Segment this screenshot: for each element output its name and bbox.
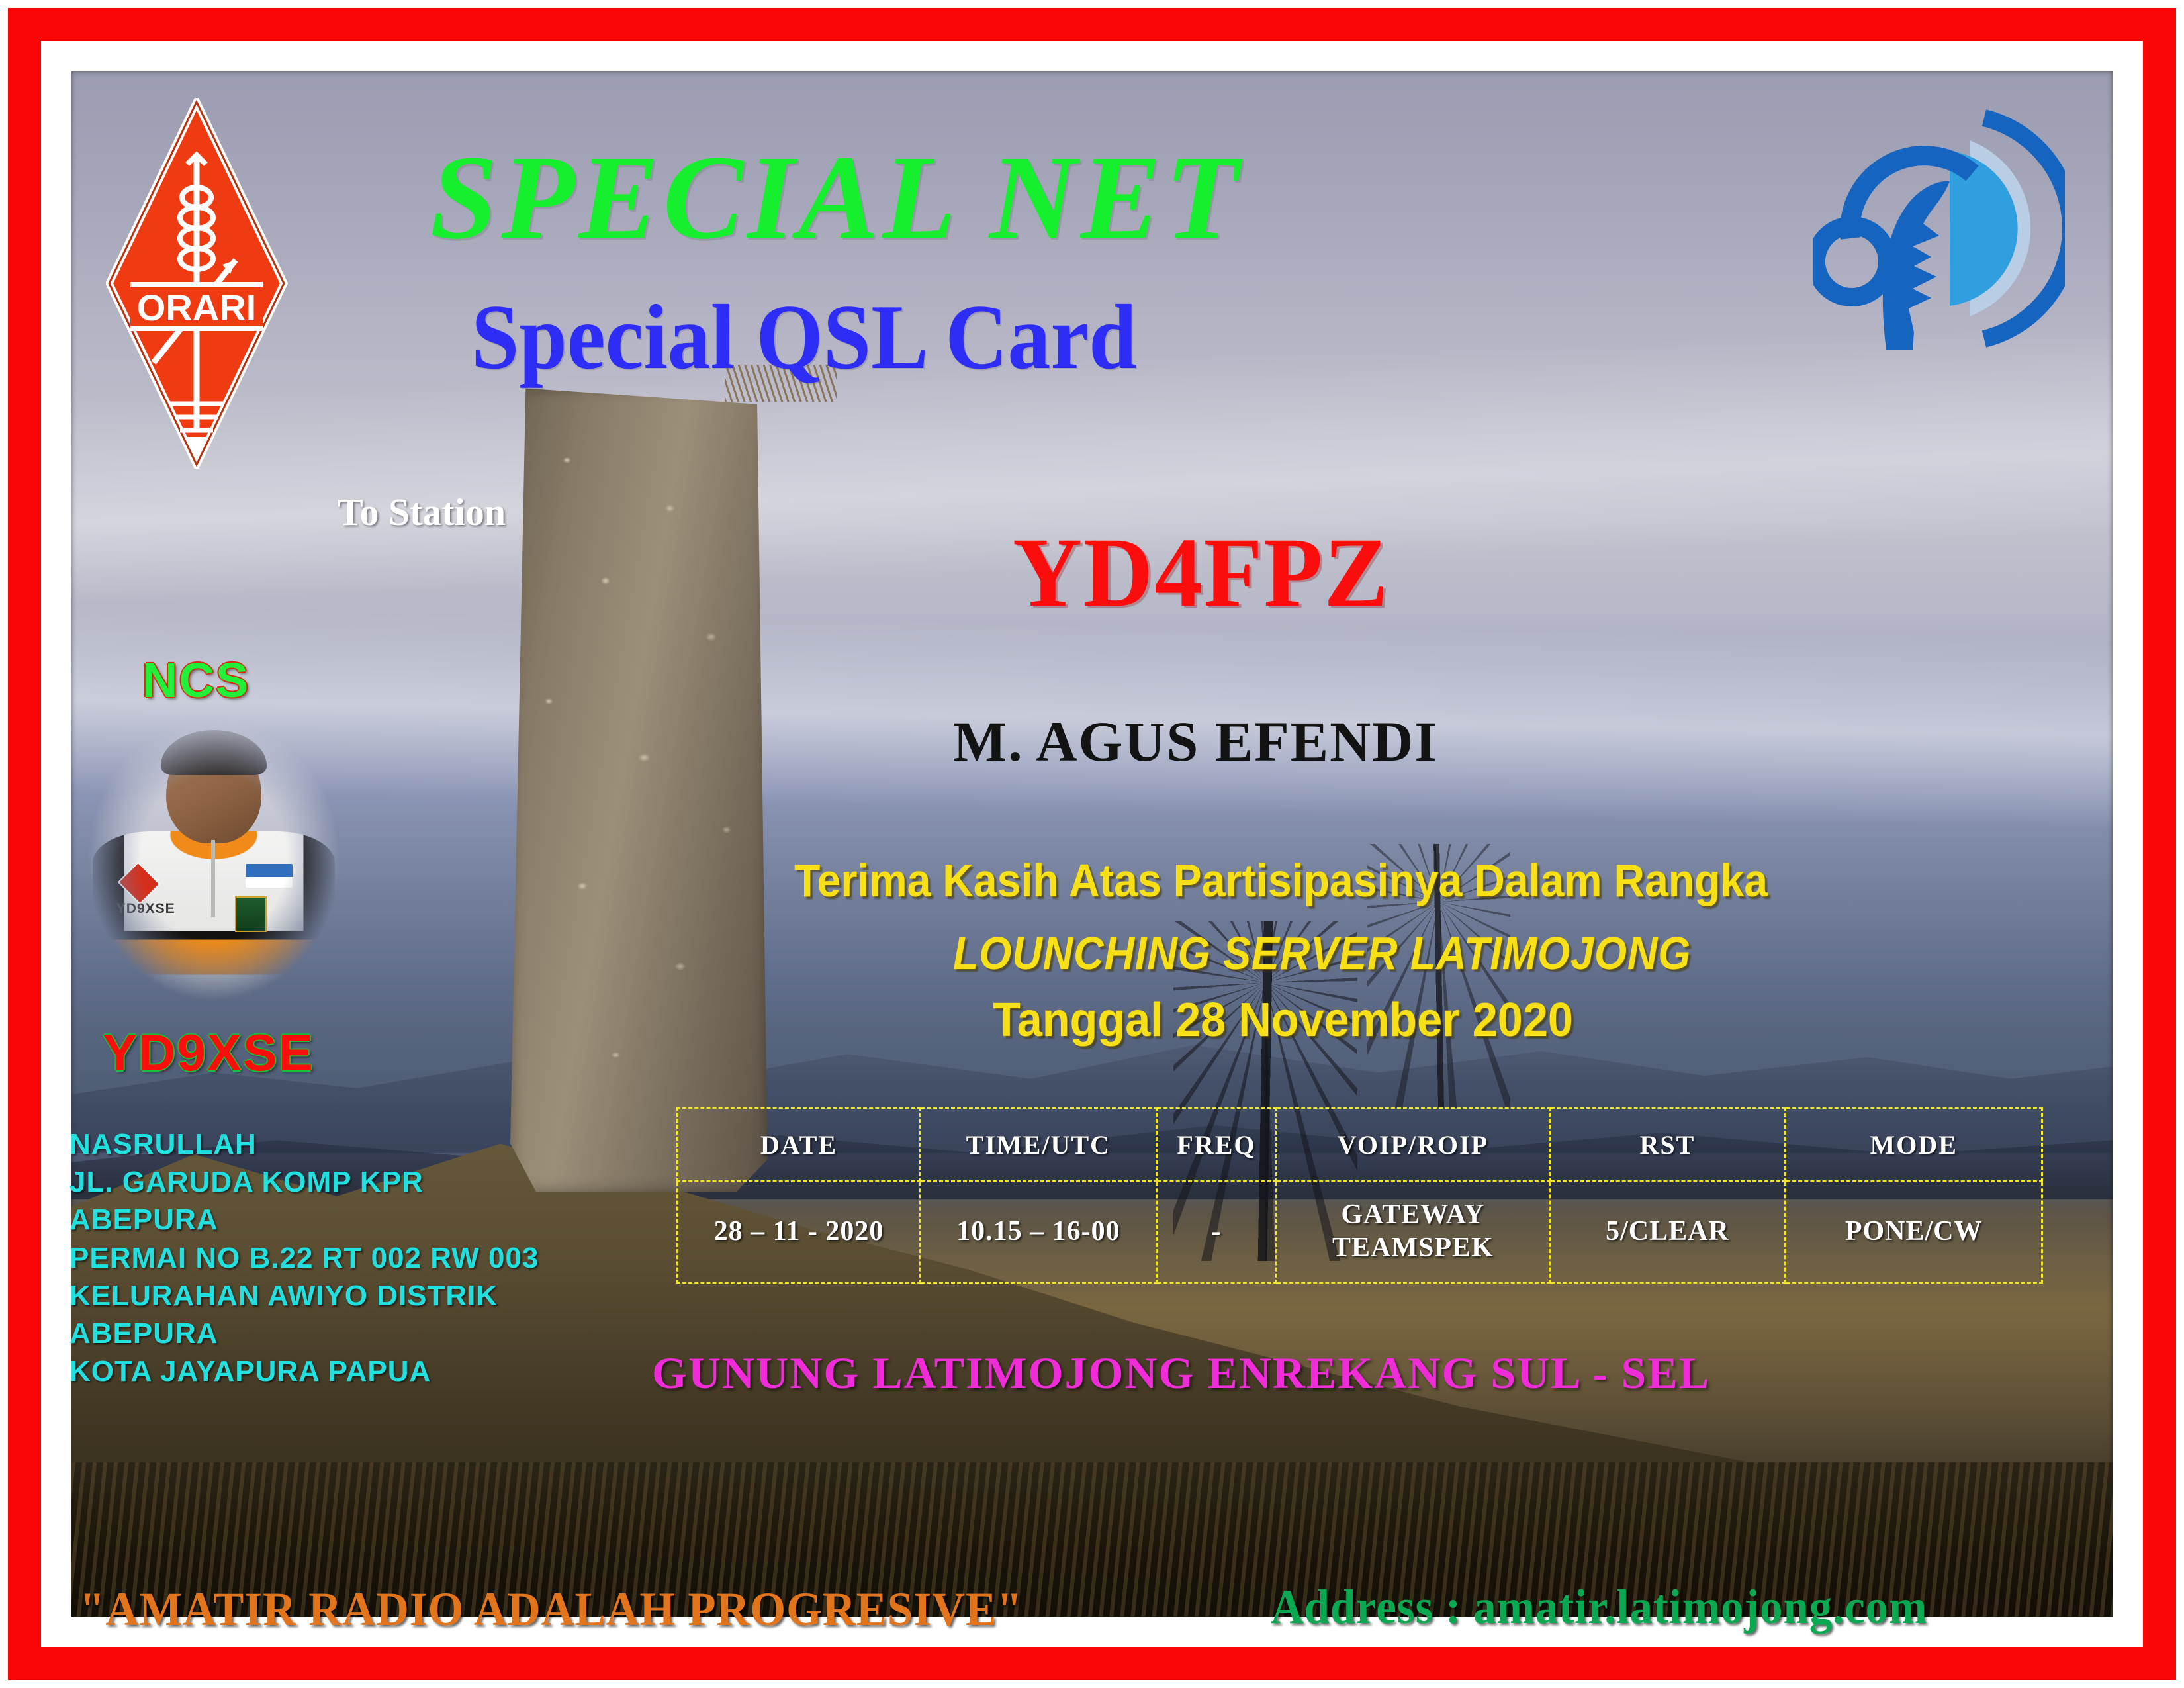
to-station-label: To Station [338,490,506,534]
thanks-line: Terima Kasih Atas Partisipasinya Dalam R… [794,854,1768,907]
address-line: PERMAI NO B.22 RT 002 RW 003 [69,1239,539,1277]
table-row: 28 – 11 - 2020 10.15 – 16-00 - GATEWAY T… [678,1182,2042,1283]
stone-cairn [510,388,768,1192]
shirt-placket [211,840,215,917]
station-callsign: YD4FPZ [1013,523,1389,622]
ncs-callsign: YD9XSE [103,1023,314,1083]
location-line: GUNUNG LATIMOJONG ENREKANG SUL - SEL [652,1347,1710,1399]
column-header-date: DATE [678,1108,921,1182]
headset-face-logo [1813,99,2065,357]
qsl-card: ORARI SPECIAL NET Specia [0,0,2184,1688]
event-line: LOUNCHING SERVER LATIMOJONG [953,927,1691,980]
shirt-org-patch [246,864,293,888]
cell-date: 28 – 11 - 2020 [678,1182,921,1283]
column-header-freq: FREQ [1156,1108,1276,1182]
column-header-voip: VOIP/ROIP [1277,1108,1549,1182]
operator-hair [161,730,266,774]
orari-logo: ORARI [106,98,288,469]
event-date-line: Tanggal 28 November 2020 [993,993,1573,1047]
address-line: NASRULLAH [69,1125,539,1163]
cell-voip: GATEWAY TEAMSPEK [1277,1182,1549,1283]
page-title: SPECIAL NET [430,138,1242,258]
address-block: NASRULLAH JL. GARUDA KOMP KPR ABEPURA PE… [69,1125,539,1390]
ncs-label: NCS [142,652,250,708]
address-line: KOTA JAYAPURA PAPUA [69,1352,539,1390]
table-header-row: DATE TIME/UTC FREQ VOIP/ROIP RST MODE [678,1108,2042,1182]
address-line: ABEPURA [69,1315,539,1352]
cell-rst: 5/CLEAR [1549,1182,1786,1283]
column-header-time: TIME/UTC [921,1108,1157,1182]
operator-name: M. AGUS EFENDI [953,708,1438,774]
shirt-callsign-text: YD9XSE [116,901,175,917]
footer-web-address: Address : amatir.latimojong.com [1271,1579,1927,1636]
page-subtitle: Special QSL Card [471,291,1137,384]
cell-voip-line1: GATEWAY [1341,1199,1484,1230]
id-badge [235,896,267,931]
cell-mode: PONE/CW [1786,1182,2042,1283]
footer-slogan: "AMATIR RADIO ADALAH PROGRESIVE" [79,1582,1023,1637]
column-header-mode: MODE [1786,1108,2042,1182]
cell-freq: - [1156,1182,1276,1283]
address-line: KELURAHAN AWIYO DISTRIK [69,1277,539,1315]
qso-log-table: DATE TIME/UTC FREQ VOIP/ROIP RST MODE 28… [676,1107,2043,1284]
cell-voip-line2: TEAMSPEK [1332,1233,1494,1263]
cell-time: 10.15 – 16-00 [921,1182,1157,1283]
orari-wordmark: ORARI [137,287,256,328]
address-line: ABEPURA [69,1201,539,1239]
column-header-rst: RST [1549,1108,1786,1182]
address-line: JL. GARUDA KOMP KPR [69,1163,539,1201]
